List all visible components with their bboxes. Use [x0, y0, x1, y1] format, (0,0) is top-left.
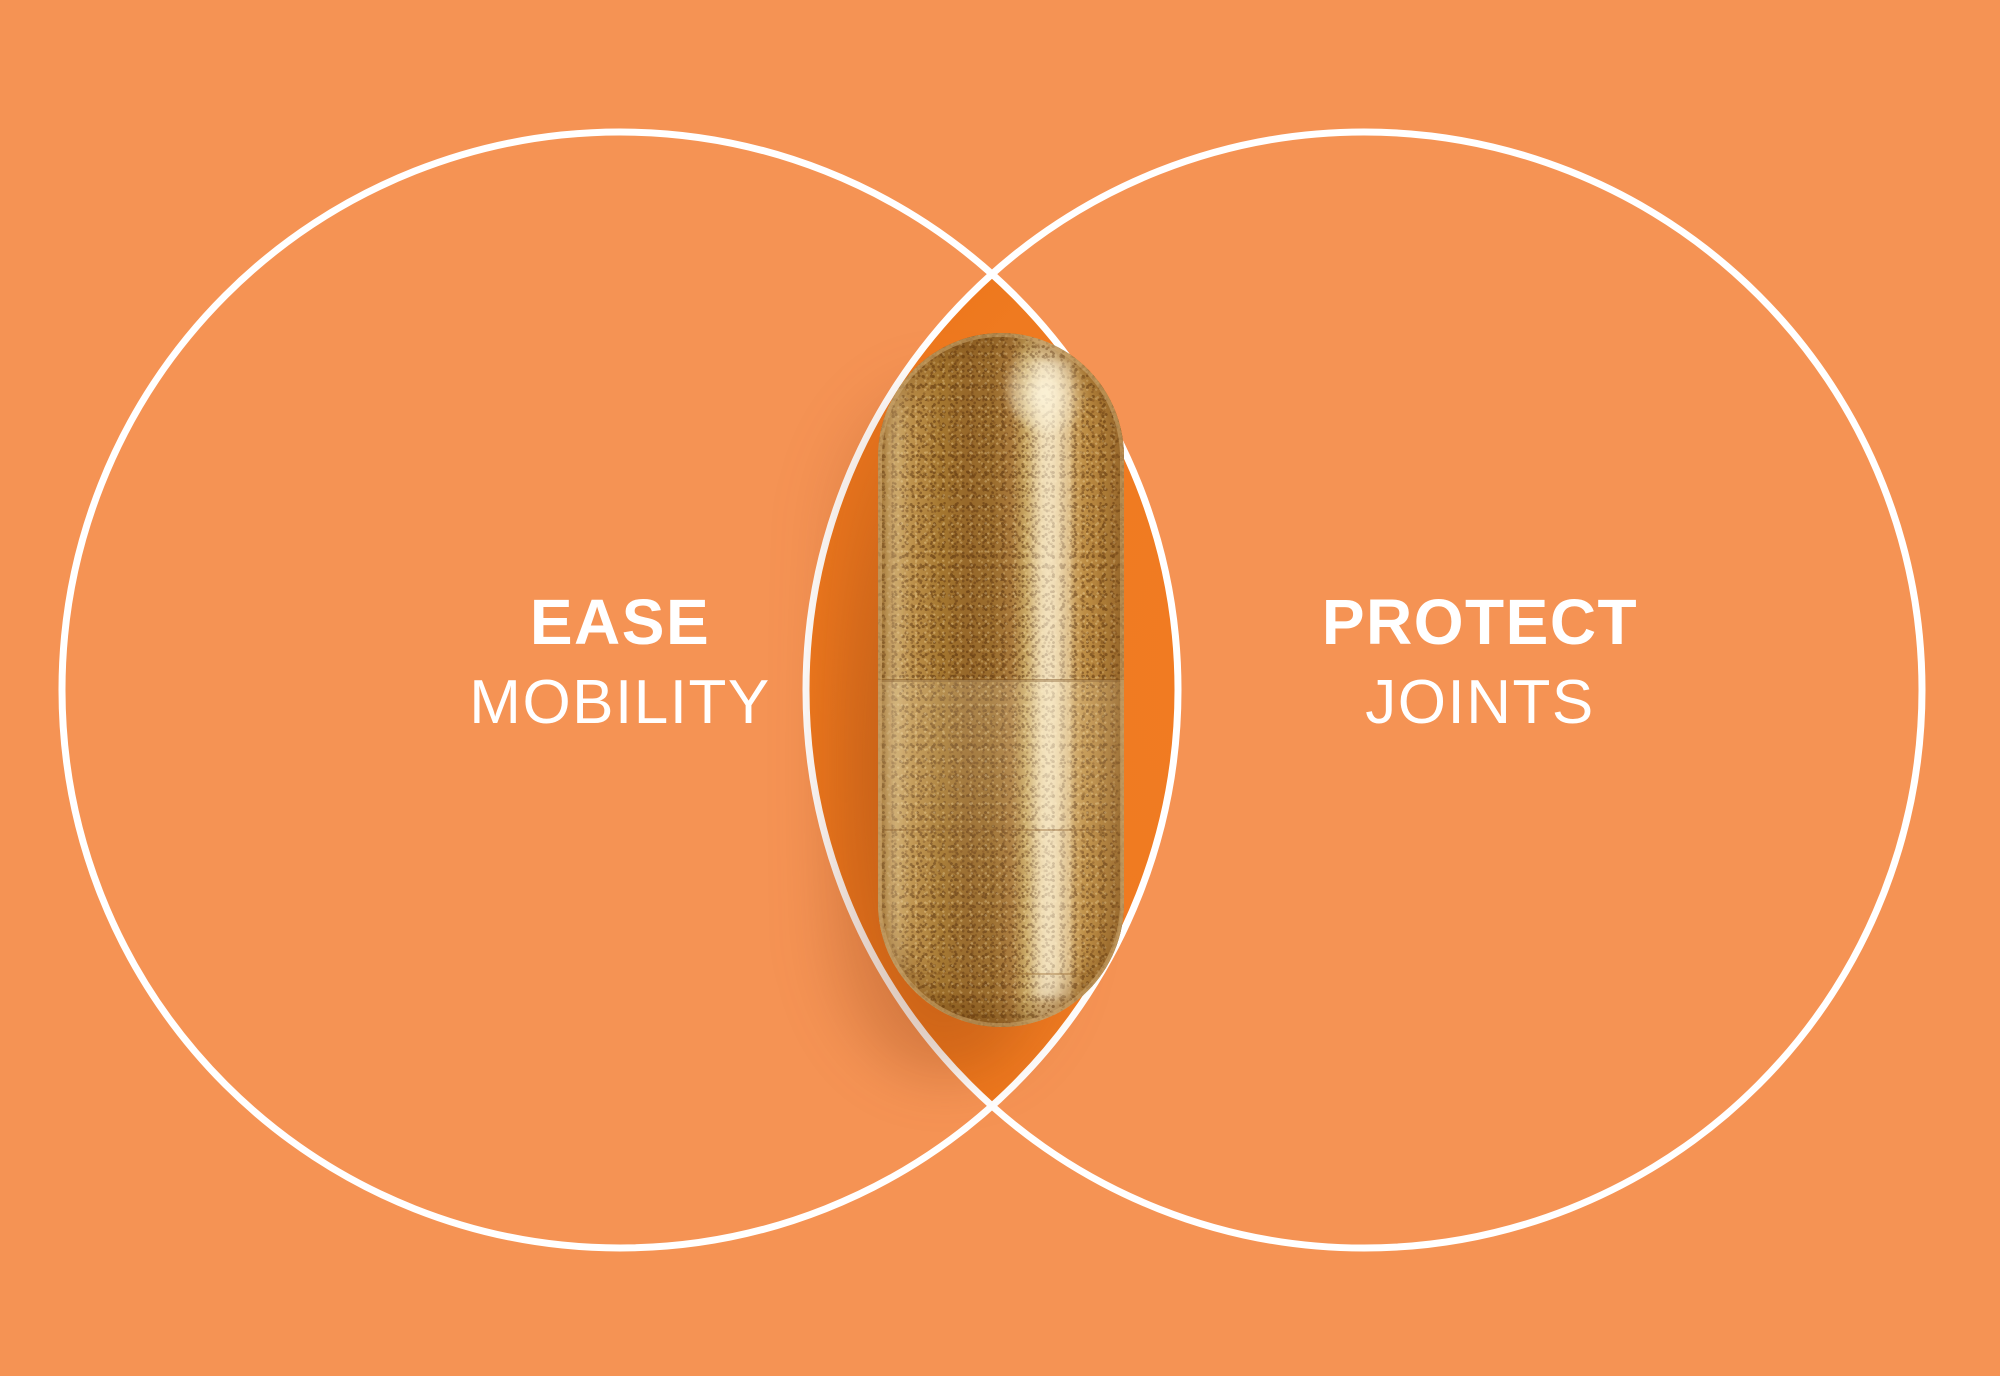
left-circle-label: EASE MOBILITY [160, 590, 1080, 734]
right-circle-heading: PROTECT [1020, 590, 1940, 654]
venn-diagram-graphic: EASE MOBILITY PROTECT JOINTS [0, 0, 2000, 1376]
right-circle-subheading: JOINTS [1020, 672, 1940, 734]
right-circle-label: PROTECT JOINTS [1020, 590, 1940, 734]
left-circle-heading: EASE [160, 590, 1080, 654]
left-circle-subheading: MOBILITY [160, 672, 1080, 734]
